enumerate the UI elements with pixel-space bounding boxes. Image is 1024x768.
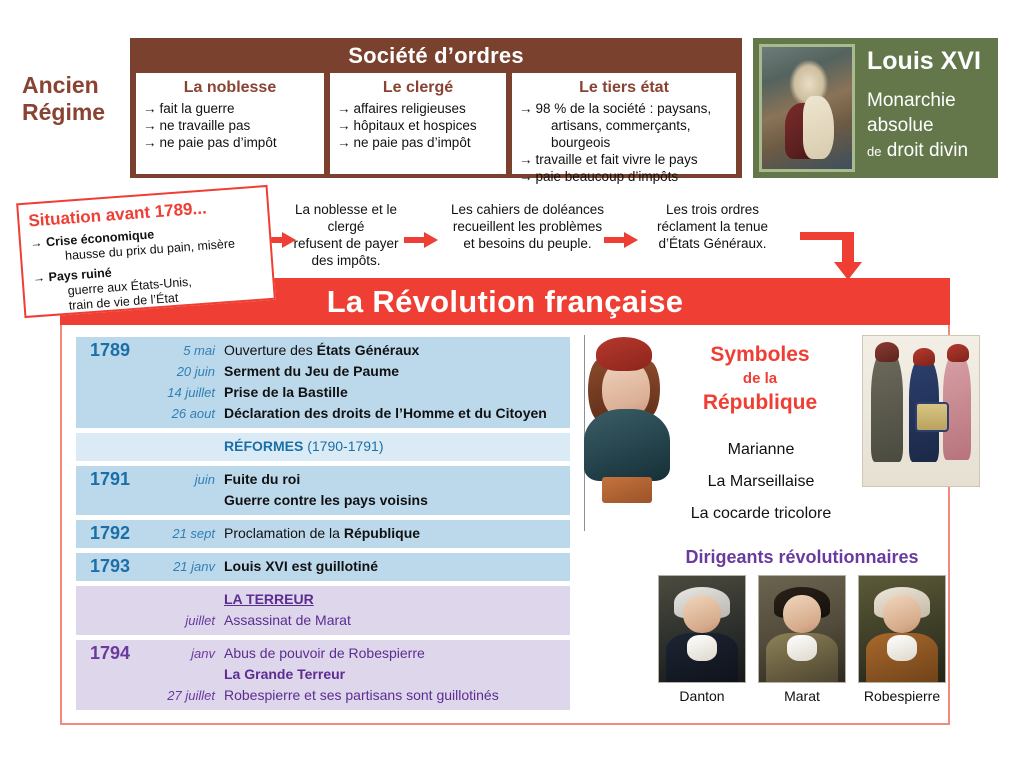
timeline-event: Proclamation de la République: [224, 523, 420, 544]
ordre-title-noblesse: La noblesse: [143, 79, 317, 97]
timeline-year: 1793: [76, 556, 146, 577]
ordre-list-noblesse: →fait la guerre →ne travaille pas →ne pa…: [143, 100, 317, 151]
chain-step-2: Les cahiers de doléances recueillent les…: [440, 201, 615, 252]
portrait-face: [783, 595, 821, 633]
timeline-year: [76, 436, 146, 457]
symboles-title-line2: de la: [686, 367, 834, 391]
louis-xvi-text: Louis XVI Monarchie absolue de droit div…: [855, 38, 981, 164]
ordres-row: La noblesse →fait la guerre →ne travaill…: [136, 73, 736, 174]
figure-head-3: [947, 344, 969, 362]
timeline-row: juillet Assassinat de Marat: [146, 610, 570, 631]
portrait-ermine-shape: [803, 96, 834, 159]
marianne-bust-image: [584, 337, 670, 507]
timeline-event: Prise de la Bastille: [224, 382, 348, 403]
dirigeant-robespierre: Robespierre: [858, 575, 946, 704]
chain-step-1: La noblesse et le clergé refusent de pay…: [276, 201, 416, 269]
timeline-year: 1791: [76, 469, 146, 511]
list-item: →ne paie pas d’impôt: [143, 134, 317, 151]
phrygian-cap-icon: [596, 337, 652, 371]
timeline-date: 21 janv: [146, 556, 224, 577]
timeline-event-bold: Louis XVI est guillotiné: [224, 558, 378, 574]
chain-step-1-line2: refusent de payer: [276, 235, 416, 252]
list-item-text: paie beaucoup d’impôts: [536, 169, 679, 184]
timeline-event: RÉFORMES (1790-1791): [224, 436, 384, 457]
arrow-icon: →: [143, 135, 157, 150]
list-item: →ne paie pas d’impôt: [337, 134, 499, 151]
dirigeants-row: Danton Marat Robespierre: [622, 575, 982, 704]
arrow-icon: →: [519, 169, 533, 184]
timeline-block-terreur: LA TERREUR juillet Assassinat de Marat: [76, 586, 570, 635]
timeline-event-bold: États Généraux: [317, 342, 420, 358]
timeline-rows: 21 janv Louis XVI est guillotiné: [146, 556, 570, 577]
timeline-row: RÉFORMES (1790-1791): [146, 436, 570, 457]
societe-ordres-panel: Société d’ordres La noblesse →fait la gu…: [130, 38, 742, 178]
timeline-row: 27 juillet Robespierre et ses partisans …: [146, 685, 570, 706]
list-item: →98 % de la société : paysans,artisans, …: [519, 100, 729, 151]
chain-step-1-line3: des impôts.: [276, 252, 416, 269]
timeline-block-1794: 1794 janv Abus de pouvoir de Robespierre…: [76, 640, 570, 710]
chain-step-2-line1: Les cahiers de doléances: [440, 201, 615, 218]
timeline-event: Louis XVI est guillotiné: [224, 556, 378, 577]
list-item: →affaires religieuses: [337, 100, 499, 117]
figure-head-2: [913, 348, 935, 366]
arrow-icon: →: [337, 118, 351, 133]
timeline-event: Ouverture des États Généraux: [224, 340, 419, 361]
page-title: La Révolution française: [327, 284, 684, 320]
louis-xvi-line1: Monarchie: [867, 88, 981, 113]
ordre-card-clerge: Le clergé →affaires religieuses →hôpitau…: [330, 73, 506, 174]
list-item: →ne travaille pas: [143, 117, 317, 134]
arrow-icon: →: [519, 101, 533, 116]
timeline-rows: LA TERREUR juillet Assassinat de Marat: [146, 589, 570, 631]
symbole-item-marianne: Marianne: [666, 441, 856, 459]
figure-head-1: [875, 342, 899, 362]
louis-xvi-line3: de droit divin: [867, 138, 981, 164]
arrow-icon: →: [30, 236, 43, 251]
dirigeant-name: Danton: [658, 688, 746, 704]
chain-step-3: Les trois ordres réclament la tenue d’Ét…: [640, 201, 785, 252]
timeline-event-pre: Assassinat de Marat: [224, 612, 351, 628]
timeline-row: 5 mai Ouverture des États Généraux: [146, 340, 570, 361]
timeline-event: Assassinat de Marat: [224, 610, 351, 631]
timeline-block-1791: 1791 juin Fuite du roi Guerre contre les…: [76, 466, 570, 515]
list-item-text: ne travaille pas: [160, 118, 251, 133]
timeline-block-1793: 1793 21 janv Louis XVI est guillotiné: [76, 553, 570, 581]
timeline-date: 27 juillet: [146, 685, 224, 706]
list-item: →paie beaucoup d’impôts: [519, 168, 729, 185]
arrow-right-icon-3: [604, 232, 638, 248]
list-item-text: fait la guerre: [160, 101, 235, 116]
arrow-icon: →: [143, 101, 157, 116]
dirigeants-title: Dirigeants révolutionnaires: [622, 547, 982, 568]
timeline-row: La Grande Terreur: [146, 664, 570, 685]
list-item-text-cont: artisans, commerçants, bourgeois: [535, 117, 729, 151]
timeline-event-pre: Abus de pouvoir de Robespierre: [224, 645, 425, 661]
list-item-text: hôpitaux et hospices: [354, 118, 477, 133]
louis-xvi-subtitle: Monarchie absolue de droit divin: [867, 88, 981, 164]
list-item: →hôpitaux et hospices: [337, 117, 499, 134]
timeline-block-1789: 1789 5 mai Ouverture des États Généraux …: [76, 337, 570, 428]
ordre-list-clerge: →affaires religieuses →hôpitaux et hospi…: [337, 100, 499, 151]
timeline-event-post: (1790-1791): [303, 438, 383, 454]
timeline-date: 5 mai: [146, 340, 224, 361]
timeline-event-bold: Prise de la Bastille: [224, 384, 348, 400]
timeline-event-bold: Guerre contre les pays voisins: [224, 492, 428, 508]
marianne-pedestal: [602, 477, 652, 503]
portrait-robespierre-image: [858, 575, 946, 683]
symbole-item-marseillaise: La Marseillaise: [666, 473, 856, 491]
timeline-event: Robespierre et ses partisans sont guillo…: [224, 685, 499, 706]
louis-xvi-line2: absolue: [867, 113, 981, 138]
timeline-date: juin: [146, 469, 224, 490]
marianne-bust: [584, 409, 670, 481]
symboles-title: Symboles de la République: [686, 343, 834, 415]
ordre-card-tiers-etat: Le tiers état →98 % de la société : pays…: [512, 73, 736, 174]
ancien-regime-label: Ancien Régime: [22, 72, 130, 126]
timeline-event: Déclaration des droits de l’Homme et du …: [224, 403, 547, 424]
list-item-text: ne paie pas d’impôt: [354, 135, 471, 150]
timeline-year: 1794: [76, 643, 146, 706]
portrait-cravat: [887, 635, 918, 660]
societe-ordres-title: Société d’ordres: [136, 42, 736, 70]
timeline-event-bold: Déclaration des droits de l’Homme et du …: [224, 405, 547, 421]
portrait-face: [883, 595, 921, 633]
dirigeant-name: Robespierre: [858, 688, 946, 704]
timeline-event: La Grande Terreur: [224, 664, 345, 685]
timeline-row: janv Abus de pouvoir de Robespierre: [146, 643, 570, 664]
timeline-event-pre: Robespierre et ses partisans sont guillo…: [224, 687, 499, 703]
portrait-marat-image: [758, 575, 846, 683]
timeline-date: 14 juillet: [146, 382, 224, 403]
timeline-row: 20 juin Serment du Jeu de Paume: [146, 361, 570, 382]
chain-step-2-line2: recueillent les problèmes: [440, 218, 615, 235]
timeline-row: juin Fuite du roi: [146, 469, 570, 490]
symbole-item-cocarde: La cocarde tricolore: [666, 505, 856, 523]
timeline-rows: juin Fuite du roi Guerre contre les pays…: [146, 469, 570, 511]
portrait-face: [683, 595, 721, 633]
list-item-text: 98 % de la société : paysans,: [536, 101, 712, 116]
timeline-year: 1789: [76, 340, 146, 424]
portrait-danton-image: [658, 575, 746, 683]
timeline-event-bold: La Grande Terreur: [224, 666, 345, 682]
figure-sans-culotte-1: [871, 350, 903, 462]
louis-xvi-line3-big: droit divin: [887, 140, 968, 161]
dirigeant-name: Marat: [758, 688, 846, 704]
arrow-icon: →: [337, 101, 351, 116]
timeline-date: juillet: [146, 610, 224, 631]
timeline-event: LA TERREUR: [224, 589, 314, 610]
sans-culottes-engraving-image: [862, 335, 980, 487]
chain-step-3-line1: Les trois ordres: [640, 201, 785, 218]
louis-xvi-portrait-image: [759, 44, 855, 172]
situation-avant-1789-box: Situation avant 1789... → Crise économiq…: [16, 185, 276, 318]
arrow-icon: →: [337, 135, 351, 150]
list-item: →fait la guerre: [143, 100, 317, 117]
portrait-cravat: [687, 635, 718, 660]
timeline-block-1792: 1792 21 sept Proclamation de la Républiq…: [76, 520, 570, 548]
timeline-event-pre: Ouverture des: [224, 342, 317, 358]
timeline-row: 26 aout Déclaration des droits de l’Homm…: [146, 403, 570, 424]
ordre-title-clerge: Le clergé: [337, 79, 499, 97]
timeline-row: LA TERREUR: [146, 589, 570, 610]
dirigeant-marat: Marat: [758, 575, 846, 704]
timeline-row: Guerre contre les pays voisins: [146, 490, 570, 511]
timeline-row: 21 sept Proclamation de la République: [146, 523, 570, 544]
ordre-title-tiers-etat: Le tiers état: [519, 79, 729, 97]
timeline-event-bold: RÉFORMES: [224, 438, 303, 454]
dirigeant-danton: Danton: [658, 575, 746, 704]
timeline-event-bold: Serment du Jeu de Paume: [224, 363, 399, 379]
timeline-event-bold: Fuite du roi: [224, 471, 300, 487]
list-item-text: ne paie pas d’impôt: [160, 135, 277, 150]
timeline-year: 1792: [76, 523, 146, 544]
chain-step-1-line1: La noblesse et le clergé: [276, 201, 416, 235]
louis-xvi-line3-small: de: [867, 144, 881, 159]
timeline-rows: janv Abus de pouvoir de Robespierre La G…: [146, 643, 570, 706]
timeline-event: Fuite du roi: [224, 469, 300, 490]
arrow-icon: →: [143, 118, 157, 133]
arrow-icon: →: [519, 152, 533, 167]
ordre-card-noblesse: La noblesse →fait la guerre →ne travaill…: [136, 73, 324, 174]
chain-step-3-line2: réclament la tenue: [640, 218, 785, 235]
main-content-box: 1789 5 mai Ouverture des États Généraux …: [60, 325, 950, 725]
timeline-rows: RÉFORMES (1790-1791): [146, 436, 570, 457]
chain-step-2-line3: et besoins du peuple.: [440, 235, 615, 252]
timeline-date: 20 juin: [146, 361, 224, 382]
timeline-event: Guerre contre les pays voisins: [224, 490, 428, 511]
timeline-event-bold: République: [344, 525, 420, 541]
arrow-icon: →: [32, 270, 45, 285]
timeline-year: [76, 589, 146, 631]
list-item-text: travaille et fait vivre le pays: [536, 152, 698, 167]
ordre-list-tiers-etat: →98 % de la société : paysans,artisans, …: [519, 100, 729, 185]
list-item: →travaille et fait vivre le pays: [519, 151, 729, 168]
timeline-event-underlined: LA TERREUR: [224, 591, 314, 607]
timeline-date: 21 sept: [146, 523, 224, 544]
symboles-title-line1: Symboles: [686, 343, 834, 367]
louis-xvi-panel: Louis XVI Monarchie absolue de droit div…: [753, 38, 998, 178]
arrow-right-icon-2: [404, 232, 438, 248]
timeline-row: 21 janv Louis XVI est guillotiné: [146, 556, 570, 577]
timeline-event-pre: Proclamation de la: [224, 525, 344, 541]
portrait-cravat: [787, 635, 818, 660]
list-item-text: affaires religieuses: [354, 101, 466, 116]
chain-step-3-line3: d’États Généraux.: [640, 235, 785, 252]
timeline-date: 26 aout: [146, 403, 224, 424]
timeline-block-reformes: RÉFORMES (1790-1791): [76, 433, 570, 461]
symboles-title-line3: République: [686, 391, 834, 415]
timeline-date: janv: [146, 643, 224, 664]
timeline-rows: 5 mai Ouverture des États Généraux 20 ju…: [146, 340, 570, 424]
timeline-event: Serment du Jeu de Paume: [224, 361, 399, 382]
timeline-event: Abus de pouvoir de Robespierre: [224, 643, 425, 664]
timeline: 1789 5 mai Ouverture des États Généraux …: [76, 337, 570, 715]
timeline-rows: 21 sept Proclamation de la République: [146, 523, 570, 544]
drum-shape: [915, 402, 949, 432]
louis-xvi-name: Louis XVI: [867, 46, 981, 76]
timeline-row: 14 juillet Prise de la Bastille: [146, 382, 570, 403]
